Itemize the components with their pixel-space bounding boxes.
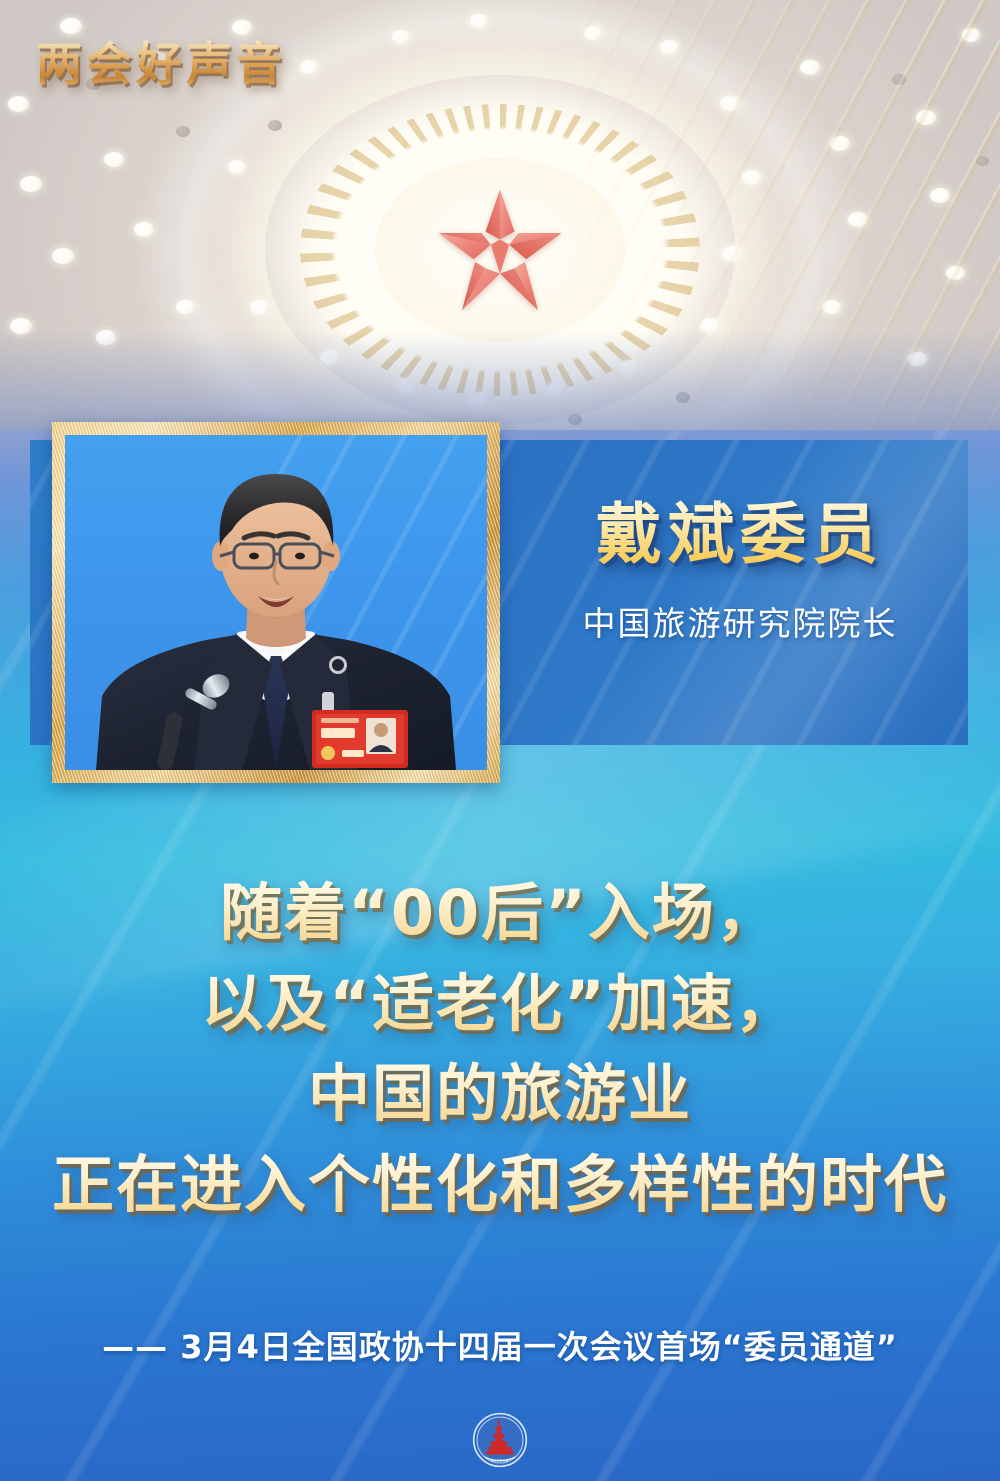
speaker-info: 戴斌委员 中国旅游研究院院长: [520, 500, 960, 645]
quote-line: 正在进入个性化和多样性的时代: [0, 1140, 1000, 1231]
speaker-name: 戴斌委员: [520, 500, 960, 569]
source-attribution: —— 3月4日全国政协十四届一次会议首场“委员通道”: [0, 1322, 1000, 1368]
speaker-portrait-illustration: [66, 460, 486, 770]
brand-logo-text: 两会好声音: [36, 28, 286, 94]
speaker-photo: [65, 435, 487, 770]
speaker-role: 中国旅游研究院院长: [520, 597, 960, 645]
poster-root: 两会好声音: [0, 0, 1000, 1481]
quote-line: 中国的旅游业: [0, 1049, 1000, 1140]
quote-line: 以及“适老化”加速，: [0, 959, 1000, 1050]
quote-block: 随着“00后”入场， 以及“适老化”加速， 中国的旅游业 正在进入个性化和多样性…: [0, 868, 1000, 1230]
speaker-photo-frame: [52, 422, 500, 783]
quote-line: 随着“00后”入场，: [0, 868, 1000, 959]
news-agency-emblem-icon: ■■■■■■: [472, 1412, 528, 1468]
svg-text:■■■■■■: ■■■■■■: [491, 1457, 509, 1462]
